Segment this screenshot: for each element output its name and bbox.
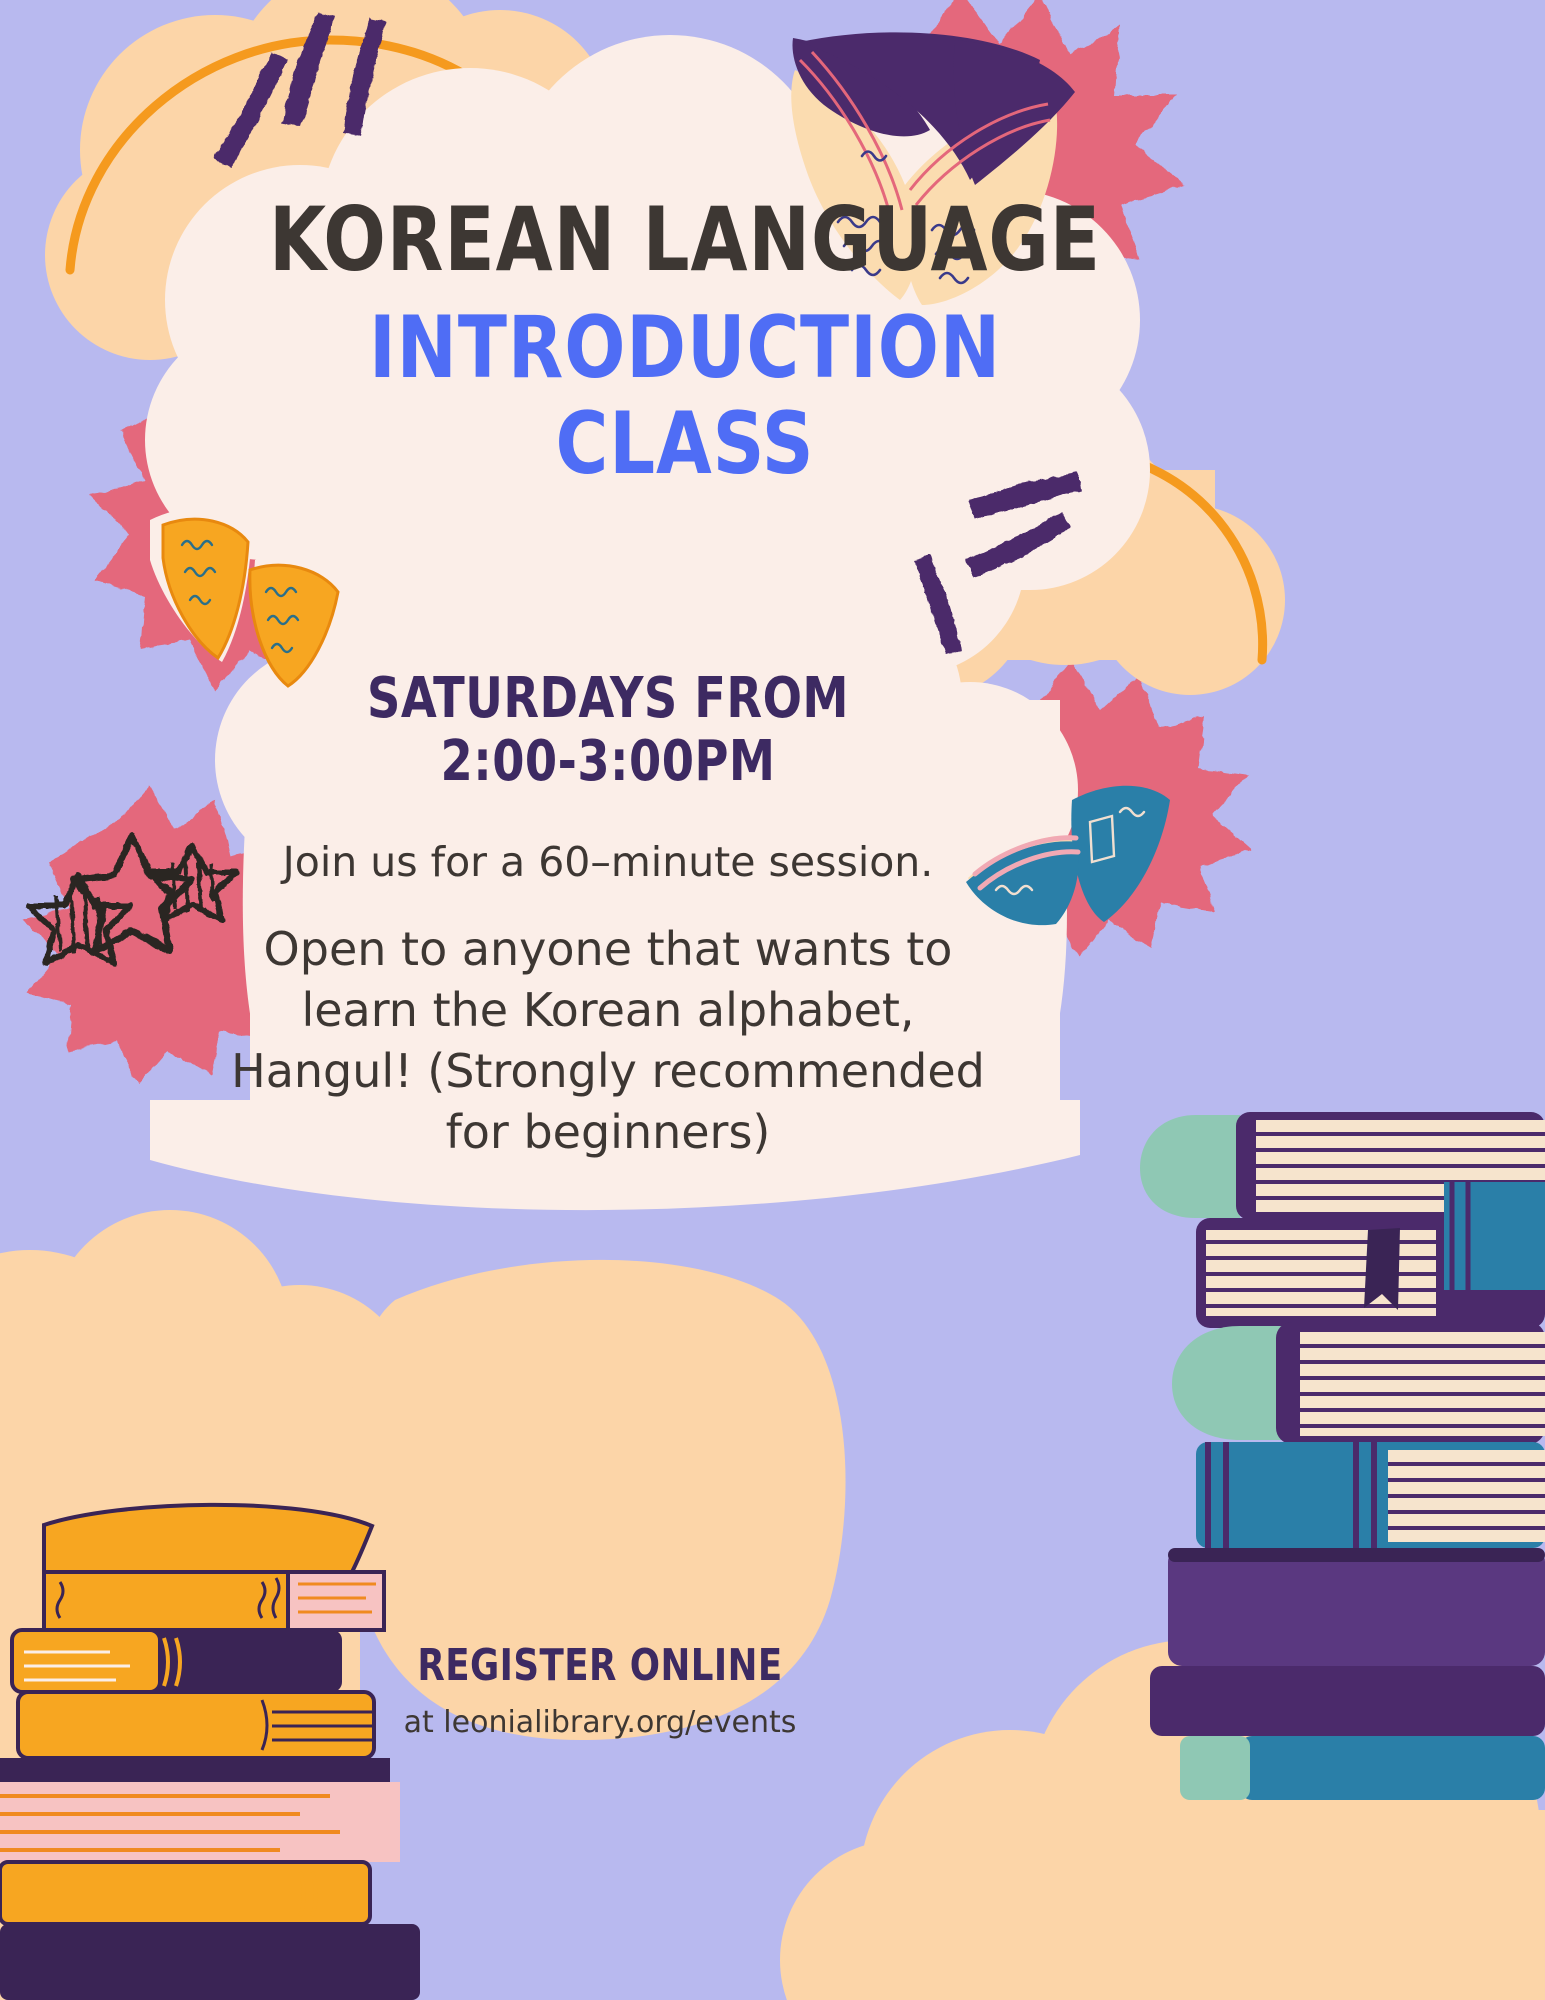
schedule-line-2: 2:00-3:00PM — [212, 731, 1003, 794]
intro-text: Join us for a 60–minute session. — [178, 837, 1038, 888]
schedule-line-1: SATURDAYS FROM — [212, 668, 1003, 731]
title-group: KOREAN LANGUAGE INTRODUCTION CLASS — [180, 196, 1190, 493]
poster-canvas: KOREAN LANGUAGE INTRODUCTION CLASS SATUR… — [0, 0, 1545, 2000]
description-line-4: for beginners) — [178, 1102, 1038, 1163]
title-line-2: INTRODUCTION — [215, 300, 1154, 396]
title-line-1: KOREAN LANGUAGE — [215, 196, 1154, 284]
register-heading: REGISTER ONLINE — [375, 1640, 825, 1691]
register-group: REGISTER ONLINE at leonialibrary.org/eve… — [350, 1640, 850, 1740]
description-group: Open to anyone that wants to learn the K… — [178, 919, 1038, 1164]
description-line-1: Open to anyone that wants to — [178, 919, 1038, 980]
description-line-2: learn the Korean alphabet, — [178, 980, 1038, 1041]
register-url[interactable]: at leonialibrary.org/events — [350, 1705, 850, 1740]
book-stack-bottom-right — [1140, 1112, 1545, 1800]
book-stack-bottom-left — [0, 1505, 420, 2000]
description-line-3: Hangul! (Strongly recommended — [178, 1041, 1038, 1102]
info-group: SATURDAYS FROM 2:00-3:00PM Join us for a… — [178, 668, 1038, 1163]
title-line-3: CLASS — [215, 396, 1154, 492]
